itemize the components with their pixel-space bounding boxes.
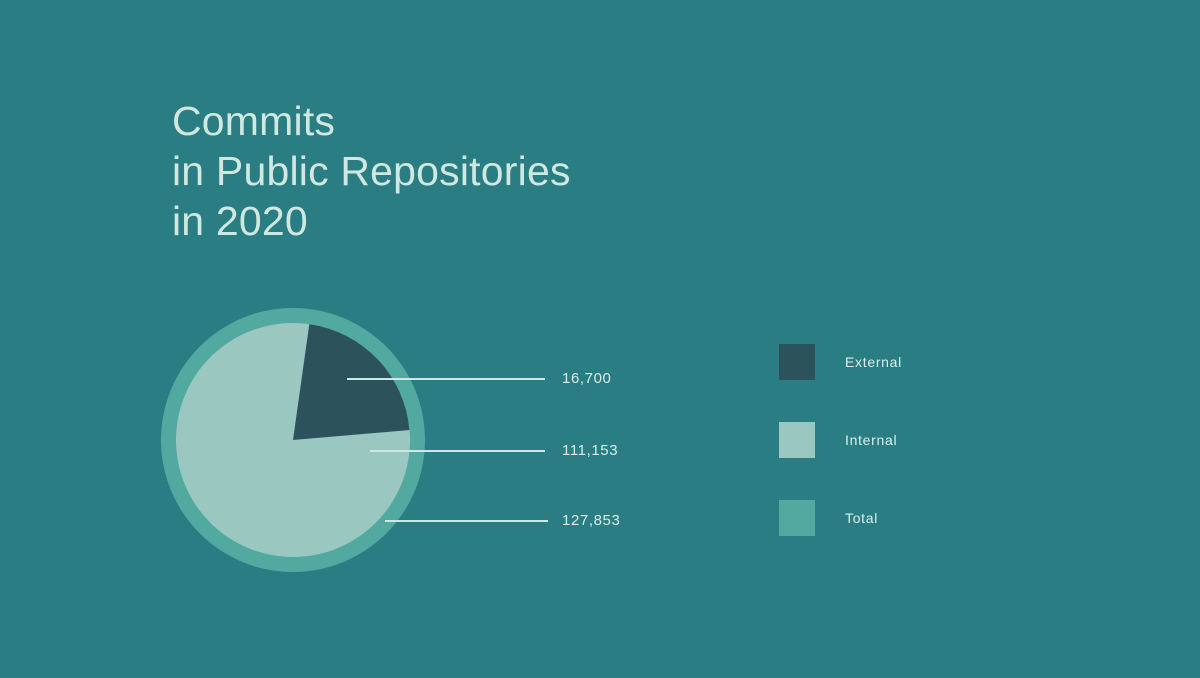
slide-canvas: Commits in Public Repositories in 2020 1… xyxy=(0,0,1200,678)
legend-swatch-total-icon xyxy=(779,500,815,536)
legend-item-external[interactable]: External xyxy=(779,344,1019,422)
callout-value-total: 127,853 xyxy=(562,512,620,530)
legend-item-total[interactable]: Total xyxy=(779,500,1019,578)
legend-label-external: External xyxy=(845,354,902,370)
legend-swatch-external-icon xyxy=(779,344,815,380)
legend-item-internal[interactable]: Internal xyxy=(779,422,1019,500)
callout-value-internal: 111,153 xyxy=(562,442,618,460)
pie-chart-svg xyxy=(0,0,1200,678)
pie-slice-external[interactable] xyxy=(293,324,410,440)
callout-value-external: 16,700 xyxy=(562,370,611,388)
legend-label-total: Total xyxy=(845,510,878,526)
chart-legend: External Internal Total xyxy=(779,344,1019,578)
legend-swatch-internal-icon xyxy=(779,422,815,458)
pie-chart: 16,700 111,153 127,853 xyxy=(0,0,1200,678)
legend-label-internal: Internal xyxy=(845,432,897,448)
